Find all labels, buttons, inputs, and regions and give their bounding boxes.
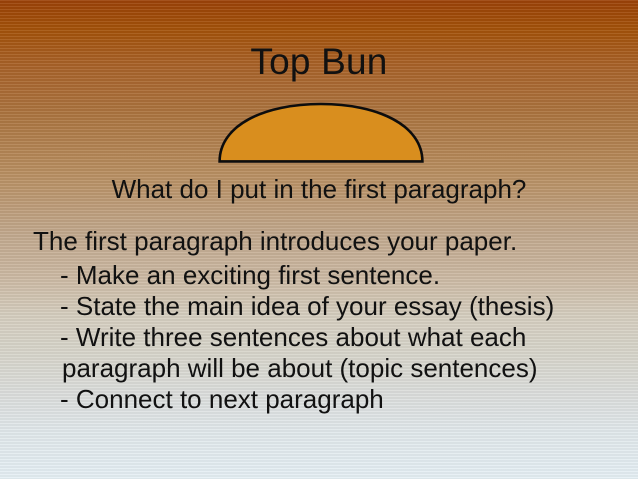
bullet-item-continuation: paragraph will be about (topic sentences… — [0, 353, 638, 384]
bullet-item: - Make an exciting first sentence. — [0, 260, 638, 291]
bullet-item: - Write three sentences about what each — [0, 322, 638, 353]
lead-sentence: The first paragraph introduces your pape… — [0, 226, 638, 257]
slide-title: Top Bun — [0, 40, 638, 84]
bullet-item: - Connect to next paragraph — [0, 384, 638, 415]
presentation-slide: Top Bun What do I put in the first parag… — [0, 0, 638, 479]
body-text-block: The first paragraph introduces your pape… — [0, 226, 638, 415]
bun-dome-path — [220, 104, 423, 161]
top-bun-shape — [218, 101, 424, 163]
bullet-item: - State the main idea of your essay (the… — [0, 291, 638, 322]
bun-dome-icon — [218, 101, 424, 163]
question-line: What do I put in the first paragraph? — [0, 172, 638, 206]
